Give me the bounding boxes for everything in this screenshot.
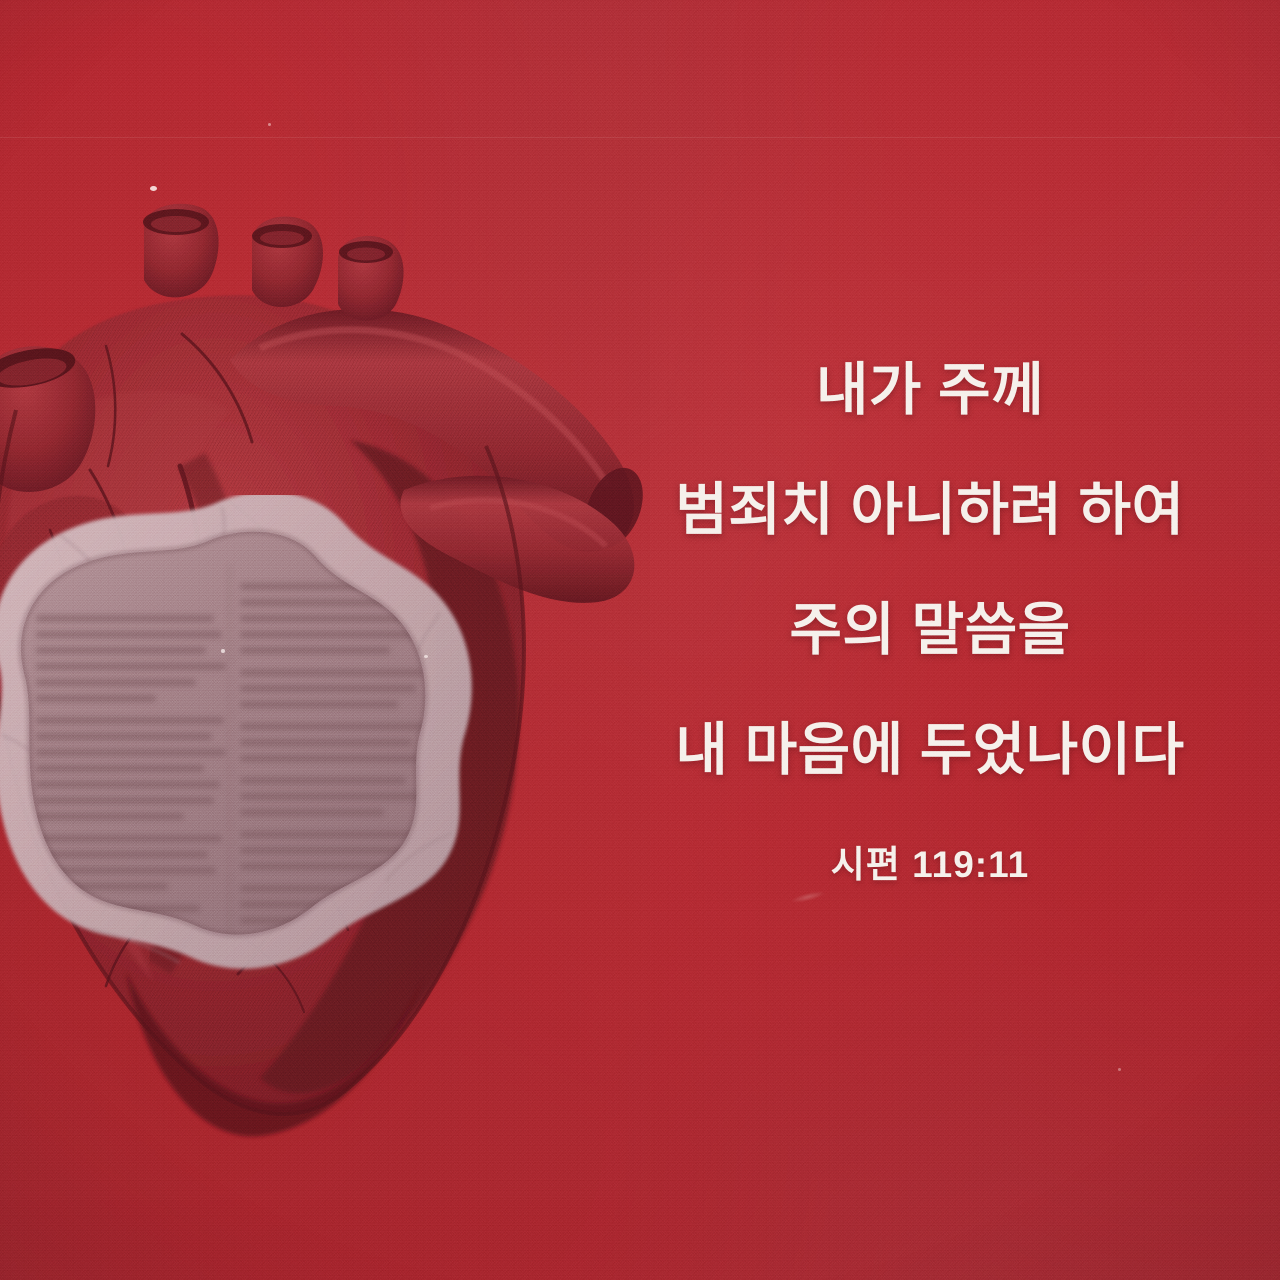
verse-line-1: 내가 주께 [600, 330, 1260, 450]
scripture-graphic-canvas: 내가 주께 범죄치 아니하려 하여 주의 말씀을 내 마음에 두었나이다 시편 … [0, 0, 1280, 1280]
scripture-verse-block: 내가 주께 범죄치 아니하려 하여 주의 말씀을 내 마음에 두었나이다 시편 … [600, 330, 1260, 888]
verse-line-4: 내 마음에 두었나이다 [600, 690, 1260, 810]
verse-reference: 시편 119:11 [600, 834, 1260, 888]
verse-line-3: 주의 말씀을 [600, 570, 1260, 690]
verse-line-2: 범죄치 아니하려 하여 [600, 450, 1260, 570]
